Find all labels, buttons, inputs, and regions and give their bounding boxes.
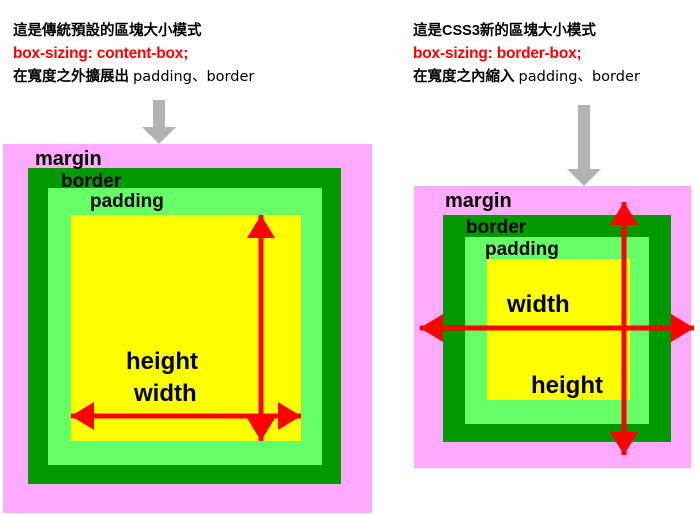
- caption-border-box: 這是CSS3新的區塊大小模式 box-sizing: border-box; 在…: [413, 20, 640, 89]
- height-arrow-bottom-tip: [610, 432, 638, 455]
- height-arrow-top-tip: [247, 215, 275, 238]
- arrow-head: [567, 169, 601, 186]
- margin-area-border-box: margin border padding width height: [414, 186, 691, 468]
- caption-line-3-bold: 在寬度之內縮入: [413, 69, 515, 85]
- arrow-shaft: [578, 105, 590, 172]
- down-arrow-icon: [142, 100, 176, 144]
- width-arrow-left-tip: [420, 314, 443, 342]
- caption-line-3: 在寬度之內縮入 padding、border: [413, 66, 640, 88]
- height-arrow: [610, 202, 638, 455]
- border-area-content-box: border padding: [28, 168, 341, 484]
- height-arrow-bar: [622, 202, 627, 455]
- caption-content-box: 這是傳統預設的區塊大小模式 box-sizing: content-box; 在…: [13, 20, 254, 89]
- width-arrow-right-tip: [671, 314, 694, 342]
- width-arrow-bar: [420, 326, 694, 331]
- caption-line-1: 這是傳統預設的區塊大小模式: [13, 20, 254, 42]
- width-arrow-left-tip: [71, 402, 94, 430]
- height-arrow-bar: [259, 215, 264, 441]
- caption-line-1: 這是CSS3新的區塊大小模式: [413, 20, 640, 42]
- caption-line-3-bold: 在寬度之外擴展出: [13, 69, 129, 85]
- height-arrow-bottom-tip: [247, 418, 275, 441]
- caption-line-3-thin: padding、border: [519, 69, 640, 85]
- border-label: border: [61, 171, 121, 193]
- height-label: height: [126, 348, 198, 376]
- width-label: width: [507, 291, 570, 319]
- margin-label: margin: [35, 148, 102, 171]
- padding-label: padding: [90, 191, 164, 213]
- down-arrow-icon: [567, 105, 601, 186]
- height-arrow-top-tip: [610, 202, 638, 225]
- height-arrow: [247, 215, 275, 441]
- caption-code-line: box-sizing: border-box;: [413, 42, 640, 66]
- margin-label: margin: [445, 190, 512, 213]
- width-arrow-right-tip: [278, 402, 301, 430]
- width-label: width: [134, 380, 197, 408]
- arrow-head: [142, 127, 176, 144]
- border-label: border: [466, 217, 526, 239]
- caption-line-3-thin: padding、border: [133, 69, 254, 85]
- arrow-shaft: [153, 100, 165, 130]
- caption-line-3: 在寬度之外擴展出 padding、border: [13, 66, 254, 88]
- height-label: height: [531, 372, 603, 400]
- margin-area-content-box: margin border padding width height: [3, 144, 372, 513]
- padding-label: padding: [485, 239, 559, 261]
- caption-code-line: box-sizing: content-box;: [13, 42, 254, 66]
